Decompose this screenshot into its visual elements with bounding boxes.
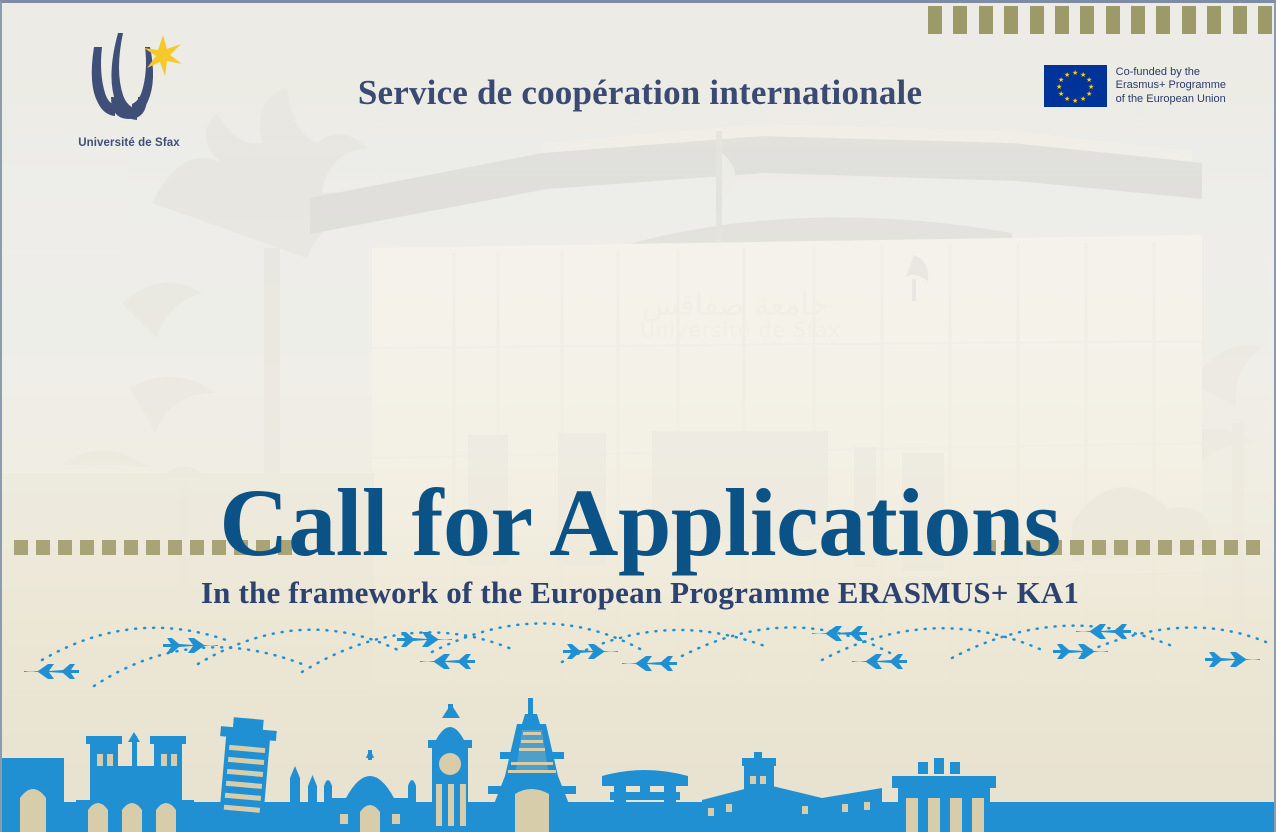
decor-bar bbox=[928, 6, 942, 34]
decor-bar bbox=[953, 6, 967, 34]
svg-text:جامعة صفاقس: جامعة صفاقس bbox=[642, 288, 828, 323]
decor-bar bbox=[1258, 6, 1272, 34]
european-union-flag-icon: ★ ★ ★ ★ ★ ★ ★ ★ ★ ★ ★ ★ bbox=[1044, 65, 1107, 107]
svg-text:Université de Sfax: Université de Sfax bbox=[640, 318, 841, 342]
decor-bar bbox=[1004, 6, 1018, 34]
eu-funding-line-2: Erasmus+ Programme bbox=[1116, 79, 1226, 93]
eu-funding-text: Co-funded by the Erasmus+ Programme of t… bbox=[1116, 66, 1226, 107]
bottom-blue-band bbox=[2, 802, 1276, 832]
decor-bar bbox=[1055, 6, 1069, 34]
flight-path-dotted-arcs bbox=[42, 623, 1266, 686]
page-subtitle: In the framework of the European Program… bbox=[2, 575, 1276, 611]
decor-bar bbox=[1207, 6, 1221, 34]
decor-bar bbox=[1233, 6, 1247, 34]
airplane-icons bbox=[24, 624, 1260, 679]
decor-bar bbox=[1182, 6, 1196, 34]
decor-bar bbox=[1030, 6, 1044, 34]
eu-funding-line-3: of the European Union bbox=[1116, 93, 1226, 107]
decor-bar bbox=[1156, 6, 1170, 34]
eu-funding-badge: ★ ★ ★ ★ ★ ★ ★ ★ ★ ★ ★ ★ Co-funded by the… bbox=[1044, 65, 1226, 107]
decor-bar bbox=[1080, 6, 1094, 34]
decor-bar bbox=[1106, 6, 1120, 34]
top-bar-decoration bbox=[914, 6, 1272, 34]
page-title: Call for Applications bbox=[2, 475, 1276, 571]
sfax-logo-label: Université de Sfax bbox=[64, 137, 194, 149]
poster-canvas: جامعة صفاقس Université de Sfax bbox=[0, 0, 1276, 832]
skyline-and-planes-illustration bbox=[2, 602, 1276, 832]
decor-bar bbox=[1131, 6, 1145, 34]
eu-funding-line-1: Co-funded by the bbox=[1116, 66, 1226, 80]
decor-bar bbox=[979, 6, 993, 34]
